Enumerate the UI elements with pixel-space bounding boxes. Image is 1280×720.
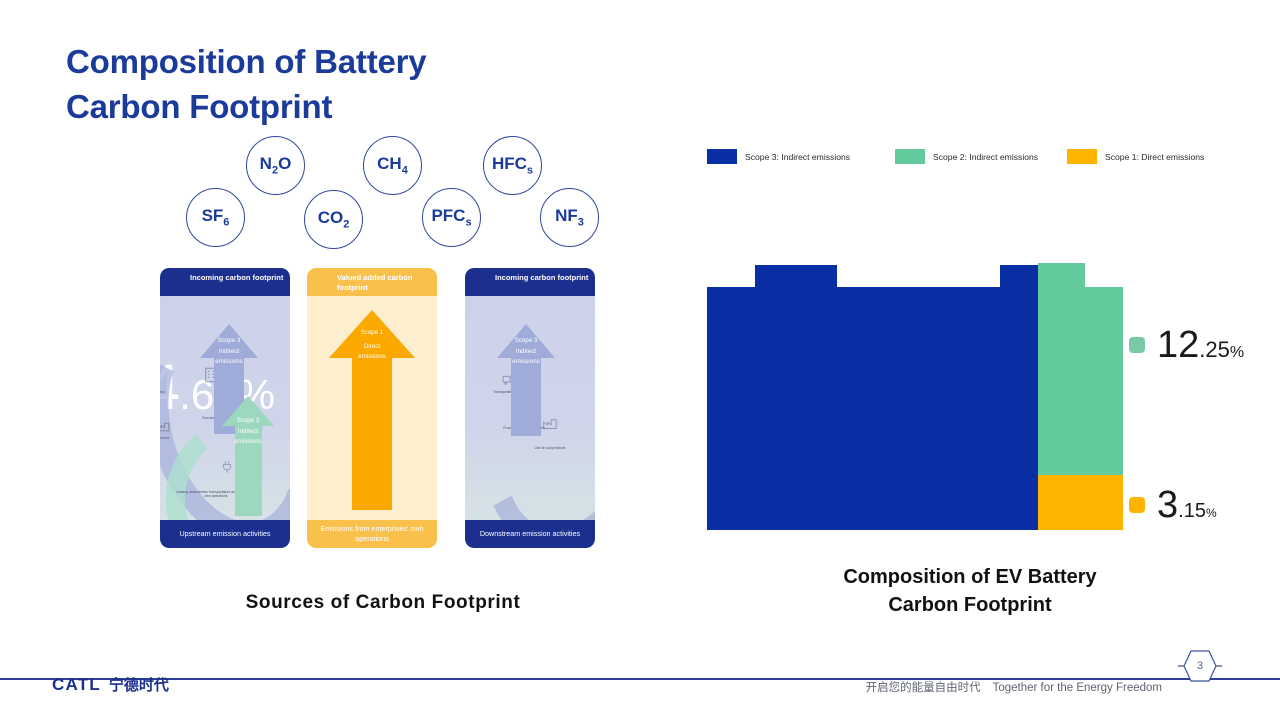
gas-formula: SF: [202, 206, 224, 225]
legend-label-scope2: Scope 2: Indirect emissions: [933, 152, 1038, 162]
gas-bubble-co2: CO2: [304, 190, 363, 249]
legend-swatch-scope3: [707, 149, 737, 164]
chart-value-scope2-marker: [1129, 337, 1145, 353]
footer-tagline-cn: 开启您的能量自由时代: [866, 682, 981, 694]
catl-logo-cn: 宁德时代: [109, 674, 169, 695]
caption-ev-battery: Composition of EV Battery Carbon Footpri…: [760, 563, 1180, 619]
arrow-scope2-label: Scope 2 Indirect emissions: [222, 416, 274, 448]
gas-formula: HFC: [492, 154, 527, 173]
panel-own-operations: Scope 1 Direct emissions Company facilit…: [307, 268, 437, 548]
legend-item-scope2: Scope 2: Indirect emissions: [895, 149, 1038, 164]
chart-step-scope2: [1038, 263, 1085, 293]
factory-icon: [160, 420, 171, 433]
panel-upstream: Scope 3 Indirect emissions Scope 2 Indir…: [160, 268, 290, 548]
gas-subscript: 6: [223, 216, 229, 228]
gas-subscript: 2: [343, 218, 349, 230]
chart-value-scope1-marker: [1129, 497, 1145, 513]
gas-formula: PFC: [431, 206, 465, 225]
gas-suffix: O: [278, 154, 291, 173]
gas-bubble-ch4: CH4: [363, 136, 422, 195]
legend-item-scope1: Scope 1: Direct emissions: [1067, 149, 1204, 164]
page-number: 3: [1178, 648, 1222, 684]
chart-segment-scope3: [707, 287, 1038, 530]
legend-item-scope3: Scope 3: Indirect emissions: [707, 149, 850, 164]
panel-upstream-header: Incoming carbon footprint: [160, 268, 290, 296]
chart-value-scope2-dec: .25: [1199, 337, 1230, 362]
gas-formula: N: [260, 154, 272, 173]
gas-bubble-sf6: SF6: [186, 188, 245, 247]
arrow-scope1-direct: Scope 1 Direct emissions: [329, 310, 415, 510]
panel-own-operations-footer: Emissions from enterprises' own operatio…: [307, 520, 437, 548]
chart-legend: Scope 3: Indirect emissions Scope 2: Ind…: [707, 149, 1227, 167]
chart-value-scope2: 12.25%: [1129, 326, 1244, 364]
slide-canvas: Composition of Battery Carbon Footprint …: [0, 0, 1280, 720]
caption-ev-battery-line1: Composition of EV Battery: [760, 563, 1180, 591]
panel-upstream-footer: Upstream emission activities: [160, 520, 290, 548]
catl-logo-en: CATL: [52, 675, 101, 695]
chart-value-scope2-pct: %: [1230, 344, 1244, 361]
chart-value-scope1-pct: %: [1206, 506, 1217, 520]
gas-bubble-nf3: NF3: [540, 188, 599, 247]
micro-text-waste: Waste generated in own operations: [160, 298, 168, 307]
arrow-scope3-downstream-label: Scope 3 Indirect emissions: [497, 336, 555, 368]
greenhouse-gas-group: SF6 N2O CO2 CH4 PFCs HFCs NF3: [0, 0, 660, 260]
gas-formula: CH: [377, 154, 402, 173]
legend-label-scope1: Scope 1: Direct emissions: [1105, 152, 1204, 162]
gas-subscript: 3: [578, 216, 584, 228]
micro-text-transportation: Transportation and distribution: [160, 390, 170, 394]
chart-value-scope1-int: 3: [1157, 484, 1178, 526]
panel-downstream: Scope 3 Indirect emissions Transportatio…: [465, 268, 595, 548]
legend-label-scope3: Scope 3: Indirect emissions: [745, 152, 850, 162]
micro-text-business-travel: Business travel: [160, 358, 166, 362]
arrow-scope3-downstream: Scope 3 Indirect emissions: [497, 324, 555, 436]
gas-subscript: 4: [402, 164, 408, 176]
footer-tagline-en: Together for the Energy Freedom: [993, 682, 1162, 694]
micro-text-commuting: Commuting of employees: [160, 416, 166, 420]
caption-sources: Sources of Carbon Footprint: [150, 592, 616, 614]
gas-bubble-n2o: N2O: [246, 136, 305, 195]
gas-formula: NF: [555, 206, 578, 225]
chart-value-scope1: 3.15%: [1129, 486, 1217, 524]
gas-bubble-pfcs: PFCs: [422, 188, 481, 247]
chart-value-scope2-int: 12: [1157, 324, 1199, 366]
micro-text-purchased-goods: Purchased goods and services: [160, 436, 174, 440]
gas-subscript: s: [465, 216, 471, 228]
arrow-scope1-label: Scope 1 Direct emissions: [329, 328, 415, 363]
gas-subscript: s: [527, 164, 533, 176]
footer-tagline: 开启您的能量自由时代Together for the Energy Freedo…: [866, 679, 1162, 695]
arrow-scope2-upstream: Scope 2 Indirect emissions: [222, 396, 274, 516]
catl-logo: CATL 宁德时代: [52, 674, 169, 695]
panel-own-operations-header: Valued added carbon footprint: [307, 268, 437, 296]
page-number-badge: 3: [1178, 648, 1222, 684]
chart-segment-scope2: [1038, 287, 1123, 475]
legend-swatch-scope1: [1067, 149, 1097, 164]
chart-value-scope1-dec: .15: [1178, 500, 1206, 522]
chart-segment-scope1: [1038, 475, 1123, 530]
legend-swatch-scope2: [895, 149, 925, 164]
gas-formula: CO: [318, 208, 344, 227]
ev-battery-footprint-chart: [707, 258, 1127, 530]
chart-step-scope3-left: [755, 265, 837, 295]
micro-text-use-sold-products: Use of sold products: [527, 446, 573, 450]
panel-downstream-footer: Downstream emission activities: [465, 520, 595, 548]
chart-step-scope3-right: [1000, 265, 1038, 295]
arrow-scope3-label: Scope 3 Indirect emissions: [200, 336, 258, 368]
panel-downstream-header: Incoming carbon footprint: [465, 268, 595, 296]
carbon-footprint-sources-diagram: Scope 3 Indirect emissions Scope 2 Indir…: [160, 268, 600, 548]
caption-ev-battery-line2: Carbon Footprint: [760, 591, 1180, 619]
gas-bubble-hfcs: HFCs: [483, 136, 542, 195]
